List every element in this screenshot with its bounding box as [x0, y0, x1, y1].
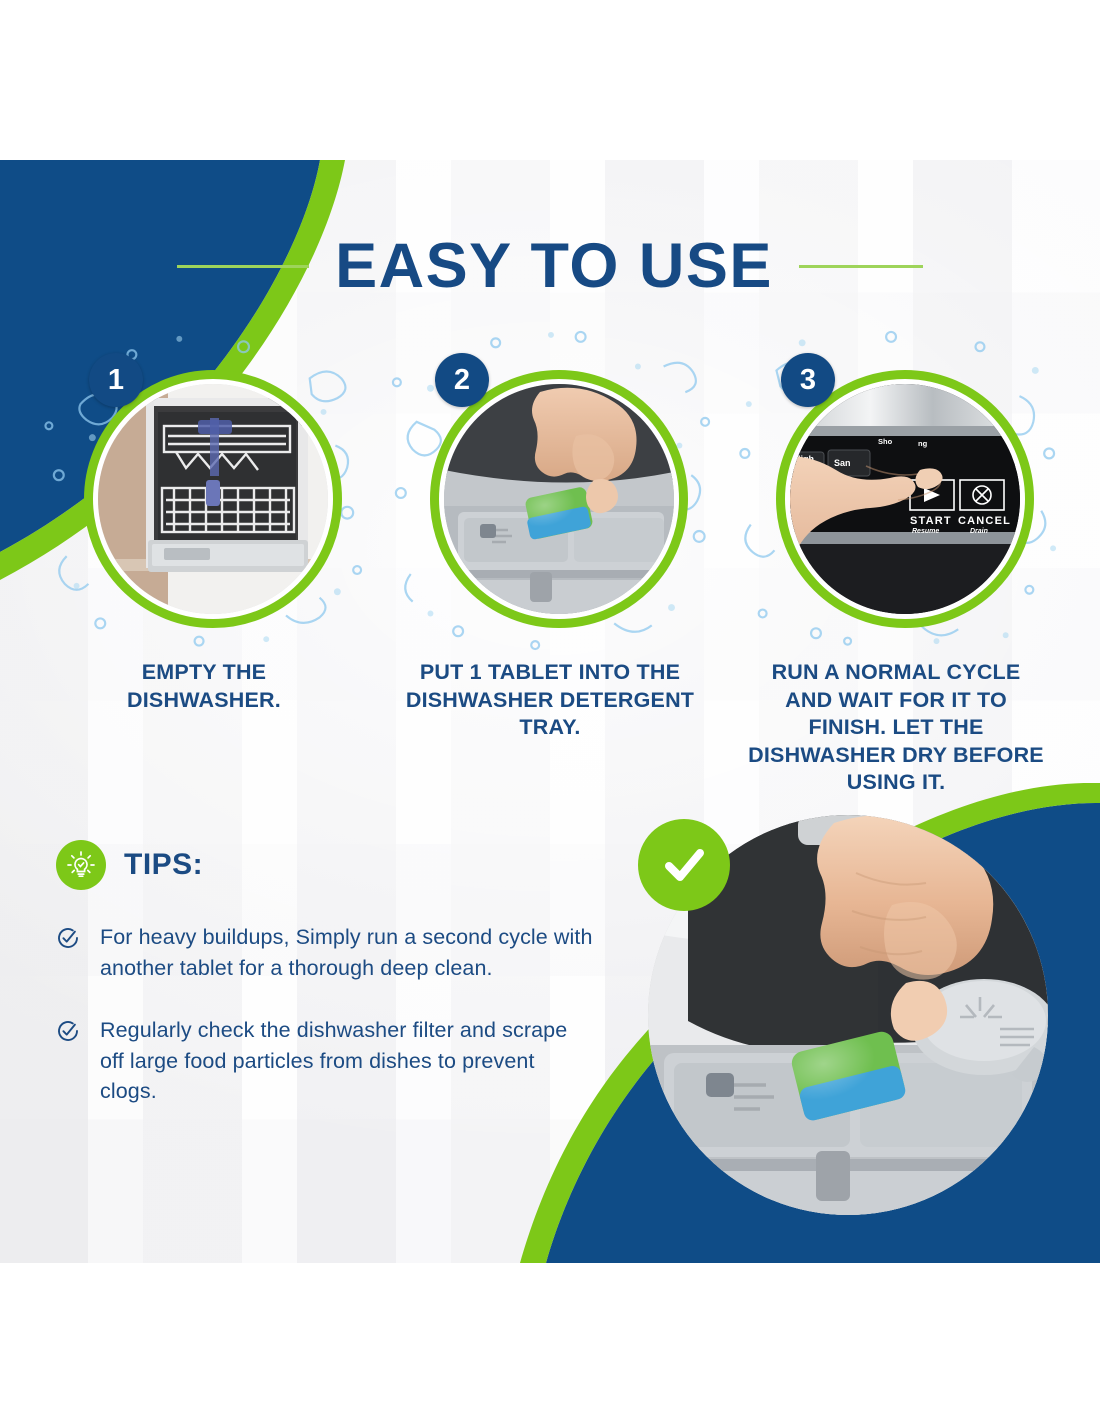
tips-section: TIPS: For heavy buildups, Simply run a s… — [56, 840, 596, 1107]
step-2-ring — [430, 370, 688, 628]
step-3-ring: High Temp San Sho ng — [776, 370, 1034, 628]
svg-text:CANCEL: CANCEL — [958, 515, 1011, 527]
tip-item-2: Regularly check the dishwasher filter an… — [56, 1015, 596, 1107]
svg-text:START: START — [910, 515, 952, 527]
step-2-photo — [444, 384, 674, 614]
step-3-caption: RUN A NORMAL CYCLE AND WAIT FOR IT TO FI… — [746, 659, 1046, 797]
title-dash-right — [799, 265, 923, 268]
page-title-row: EASY TO USE — [0, 230, 1100, 302]
step-3-number-badge: 3 — [781, 353, 835, 407]
step-2-caption: PUT 1 TABLET INTO THE DISHWASHER DETERGE… — [400, 659, 700, 742]
step-2: 2 PUT 1 TABLET INTO THE DISHWASHER DETER… — [400, 355, 700, 797]
check-circle-icon — [56, 1019, 80, 1048]
tip-text-1: For heavy buildups, Simply run a second … — [100, 922, 596, 983]
step-2-number-badge: 2 — [435, 353, 489, 407]
svg-text:San: San — [834, 458, 851, 468]
svg-text:Drain: Drain — [970, 528, 988, 535]
step-2-photo-wrap: 2 — [415, 355, 685, 625]
svg-text:Sho: Sho — [878, 437, 893, 446]
step-1-caption: EMPTY THE DISHWASHER. — [84, 659, 324, 714]
infographic-stage: EASY TO USE — [0, 160, 1100, 1263]
step-3: High Temp San Sho ng — [746, 355, 1046, 797]
svg-text:ng: ng — [918, 439, 928, 448]
step-1-photo — [98, 384, 328, 614]
tip-item-1: For heavy buildups, Simply run a second … — [56, 922, 596, 983]
step-3-photo: High Temp San Sho ng — [790, 384, 1020, 614]
title-dash-left — [177, 265, 309, 268]
step-1-photo-wrap: 1 — [69, 355, 339, 625]
svg-text:Resume: Resume — [912, 528, 939, 535]
step-1-ring — [84, 370, 342, 628]
check-circle-icon — [56, 926, 80, 955]
page-title: EASY TO USE — [335, 230, 773, 302]
lightbulb-icon — [56, 840, 106, 890]
step-3-photo-wrap: High Temp San Sho ng — [761, 355, 1031, 625]
steps-row: 1 EMPTY THE DISHWASHER. — [0, 355, 1100, 797]
tips-title: TIPS: — [124, 848, 203, 882]
tips-header: TIPS: — [56, 840, 596, 890]
check-icon — [658, 839, 710, 891]
step-1-number-badge: 1 — [89, 353, 143, 407]
tip-text-2: Regularly check the dishwasher filter an… — [100, 1015, 596, 1107]
step-1: 1 EMPTY THE DISHWASHER. — [54, 355, 354, 797]
hero-check-badge — [638, 819, 730, 911]
